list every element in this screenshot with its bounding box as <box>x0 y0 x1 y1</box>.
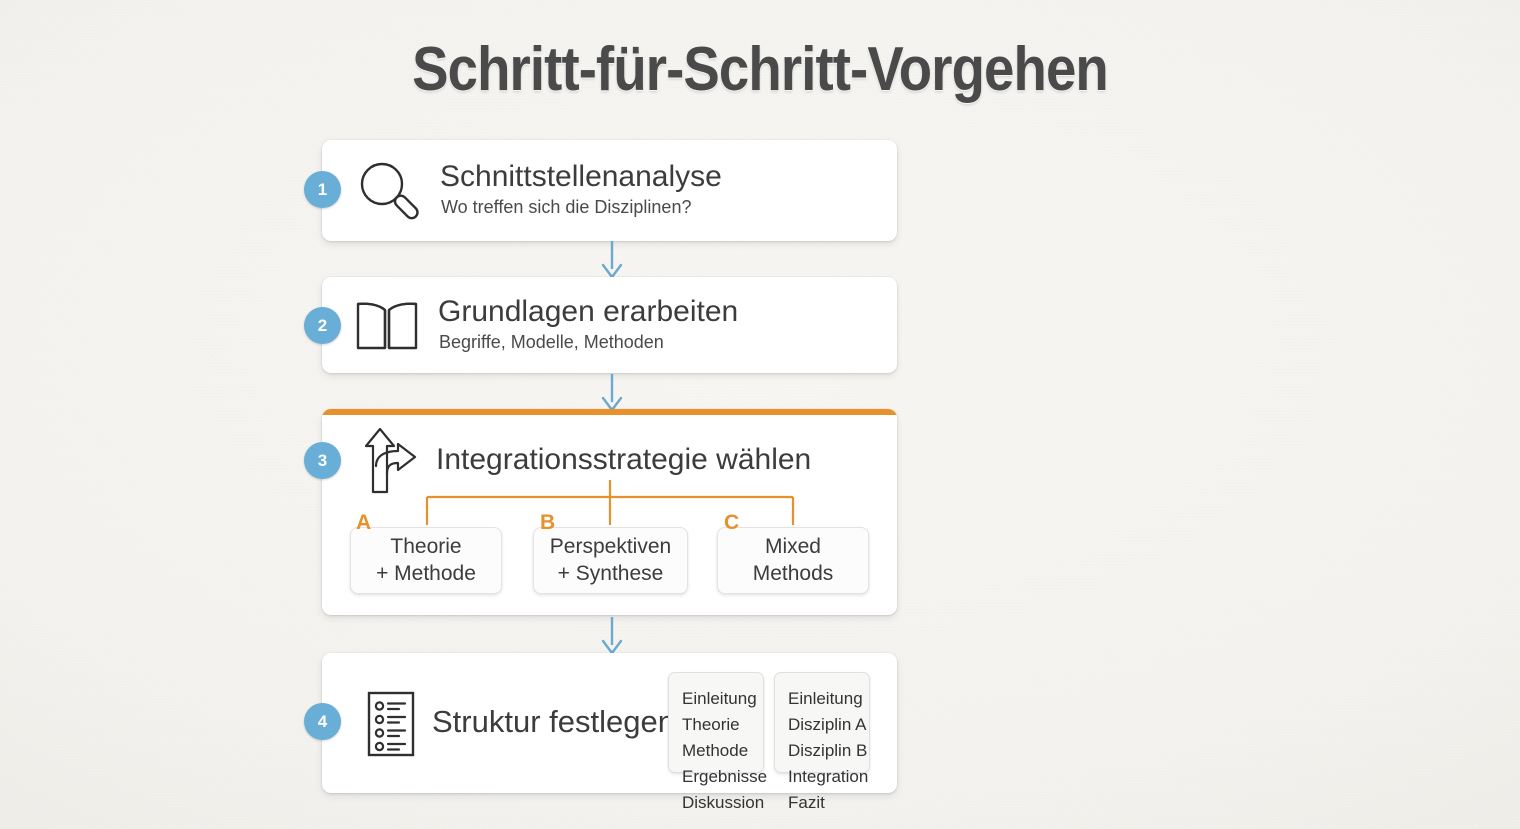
step-number-1: 1 <box>318 180 327 200</box>
structure-1-item-3: Ergebnisse <box>682 764 751 790</box>
step-number-3: 3 <box>318 451 327 471</box>
step-badge-2: 2 <box>304 307 341 344</box>
structure-2-item-1: Disziplin A <box>788 712 857 738</box>
structure-1-item-0: Einleitung <box>682 686 751 712</box>
flowchart-diagram: Schritt-für-Schritt-Vorgehen 1 Schnittst… <box>0 0 1520 829</box>
structure-2-item-4: Fazit <box>788 790 857 816</box>
step-number-4: 4 <box>318 712 327 732</box>
connector-arrow-1-2 <box>600 241 624 279</box>
structure-1-item-1: Theorie <box>682 712 751 738</box>
checklist-icon <box>362 690 420 758</box>
step-heading-4: Struktur festlegen <box>432 706 675 739</box>
page-title: Schritt-für-Schritt-Vorgehen <box>91 34 1429 105</box>
structure-1-item-2: Methode <box>682 738 751 764</box>
structure-1-item-4: Diskussion <box>682 790 751 816</box>
option-c-line2: Methods <box>753 561 834 588</box>
option-letter-c: C <box>724 511 739 535</box>
step-number-2: 2 <box>318 316 327 336</box>
option-a-line1: Theorie <box>376 534 476 561</box>
option-letter-a: A <box>356 511 371 535</box>
step-heading-1: Schnittstellenanalyse <box>440 161 722 193</box>
structure-2-item-3: Integration <box>788 764 857 790</box>
option-c-line1: Mixed <box>753 534 834 561</box>
step-heading-2: Grundlagen erarbeiten <box>438 296 738 328</box>
structure-card-2[interactable]: Einleitung Disziplin A Disziplin B Integ… <box>774 672 870 773</box>
option-letter-b: B <box>540 511 555 535</box>
option-box-a[interactable]: Theorie + Methode <box>350 527 502 594</box>
step-badge-1: 1 <box>304 171 341 208</box>
accent-top-bar <box>322 409 897 415</box>
option-b-line1: Perspektiven <box>550 534 671 561</box>
branch-connectors <box>420 480 800 530</box>
option-b-line2: + Synthese <box>550 561 671 588</box>
open-book-icon <box>352 296 422 356</box>
step-badge-3: 3 <box>304 442 341 479</box>
step-heading-3: Integrationsstrategie wählen <box>436 444 811 476</box>
branching-arrow-icon <box>360 424 420 496</box>
structure-2-item-0: Einleitung <box>788 686 857 712</box>
step-subtitle-2: Begriffe, Modelle, Methoden <box>439 333 664 353</box>
magnifier-icon <box>357 160 419 222</box>
step-subtitle-1: Wo treffen sich die Disziplinen? <box>441 198 691 218</box>
option-box-b[interactable]: Perspektiven + Synthese <box>533 527 688 594</box>
option-box-c[interactable]: Mixed Methods <box>717 527 869 594</box>
structure-card-1[interactable]: Einleitung Theorie Methode Ergebnisse Di… <box>668 672 764 773</box>
option-a-line2: + Methode <box>376 561 476 588</box>
structure-2-item-2: Disziplin B <box>788 738 857 764</box>
connector-arrow-2-3 <box>600 374 624 412</box>
step-badge-4: 4 <box>304 703 341 740</box>
connector-arrow-3-4 <box>600 617 624 655</box>
